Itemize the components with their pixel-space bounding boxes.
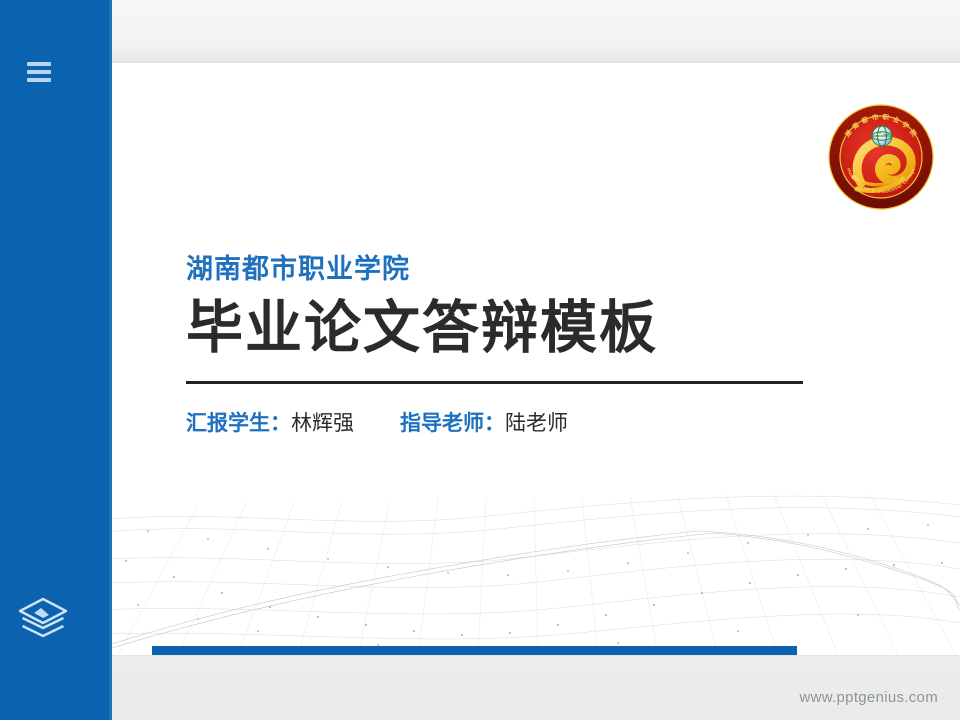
title-block: 湖南都市职业学院 毕业论文答辩模板 汇报学生：林辉强指导老师：陆老师 bbox=[186, 253, 886, 438]
presenter-label: 汇报学生： bbox=[186, 412, 291, 435]
slide-preview-stage: 湖 南 都 市 职 业 学 院 Hunan Urban Professional… bbox=[0, 0, 960, 720]
advisor-value: 陆老师 bbox=[505, 412, 568, 435]
mesh-terrain-graphic bbox=[78, 465, 960, 655]
college-emblem-icon: 湖 南 都 市 职 业 学 院 Hunan Urban Professional… bbox=[827, 103, 935, 211]
slide-accent-bar bbox=[152, 646, 797, 655]
site-watermark: www.pptgenius.com bbox=[800, 689, 939, 706]
hamburger-bar-1 bbox=[27, 62, 51, 66]
hamburger-bar-3 bbox=[27, 78, 51, 82]
school-name: 湖南都市职业学院 bbox=[186, 253, 886, 285]
presenter-meta: 汇报学生：林辉强指导老师：陆老师 bbox=[186, 410, 886, 437]
layers-icon[interactable] bbox=[16, 596, 70, 642]
slide-card: 湖 南 都 市 职 业 学 院 Hunan Urban Professional… bbox=[78, 63, 960, 655]
presenter-value: 林辉强 bbox=[291, 412, 354, 435]
title-divider bbox=[186, 381, 803, 384]
slide-headline: 毕业论文答辩模板 bbox=[186, 297, 886, 361]
hamburger-bar-2 bbox=[27, 70, 51, 74]
rail-edge-highlight bbox=[109, 0, 112, 720]
advisor-label: 指导老师： bbox=[400, 412, 505, 435]
hamburger-icon[interactable] bbox=[27, 62, 51, 82]
background-top-shade bbox=[0, 0, 960, 64]
